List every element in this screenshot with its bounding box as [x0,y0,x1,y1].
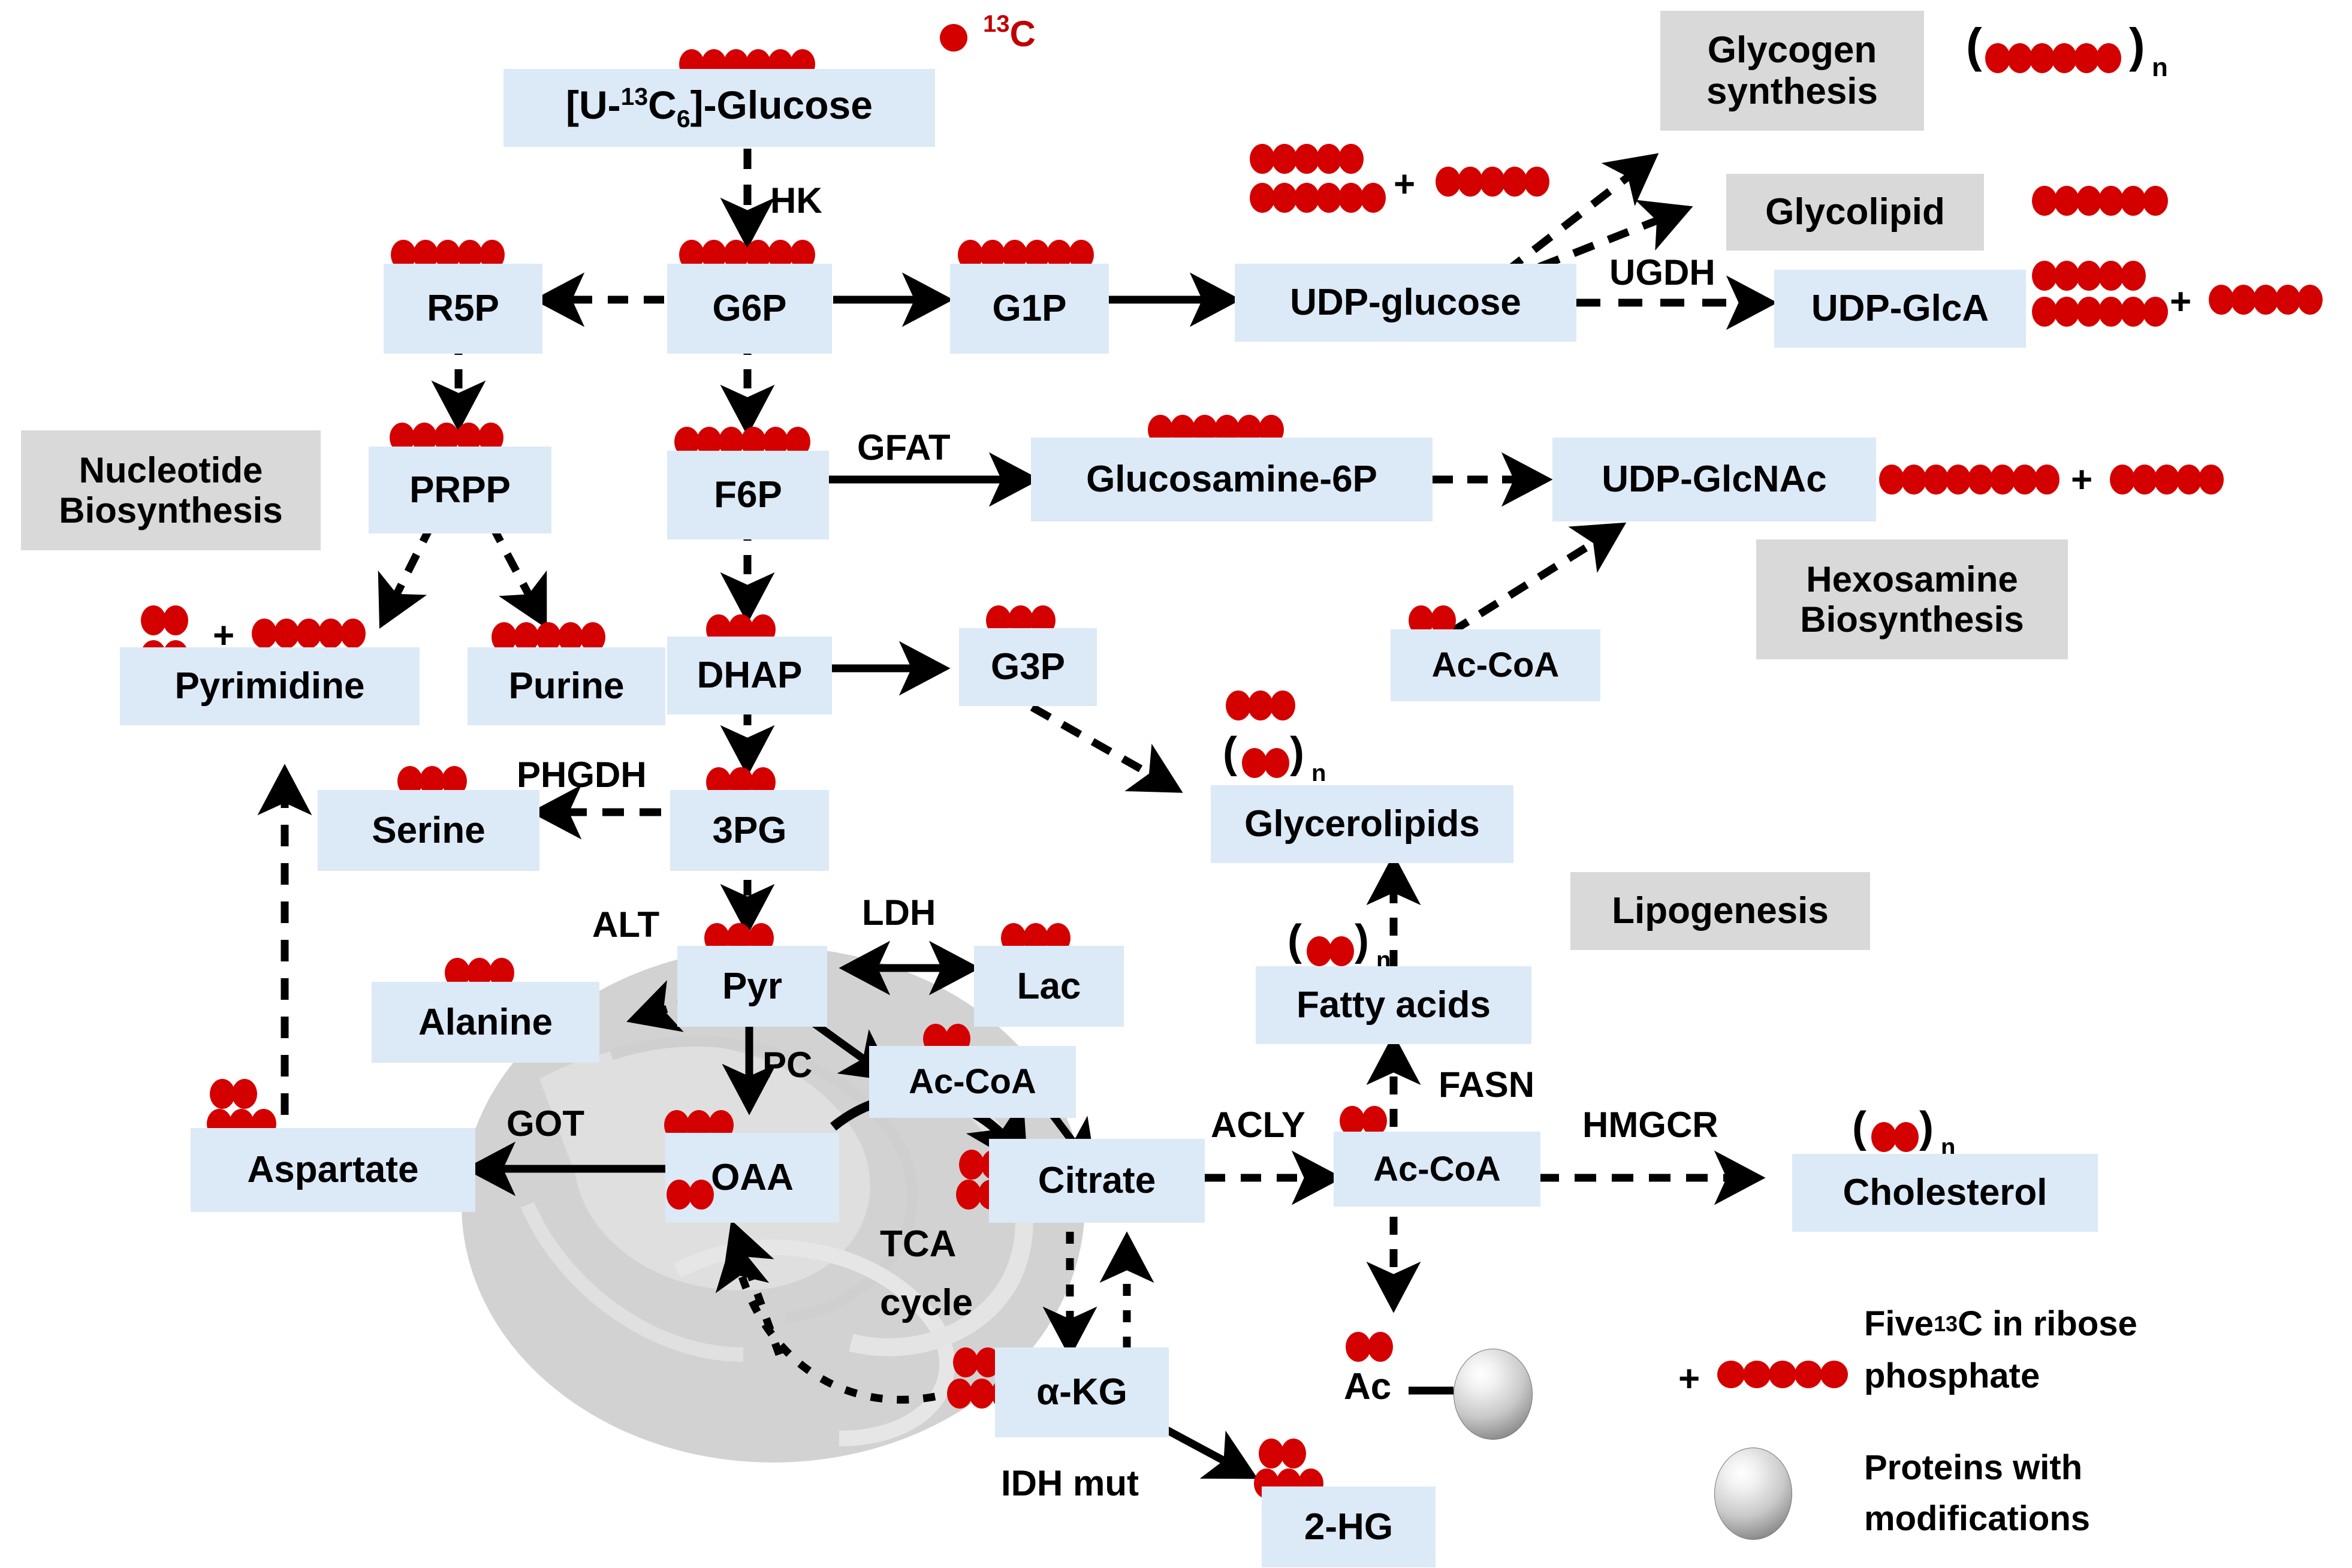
nucleotide-biosynthesis-line1: Nucleotide [79,450,263,490]
enzyme-ldh-label: LDH [862,892,936,933]
glycerolipids-carbon-dots [1226,690,1292,720]
enzyme-alt-label: ALT [592,904,659,945]
metabolite-pyrimidine[interactable]: Pyrimidine [120,647,420,725]
udp-glca-extra-carbon-dots [2209,285,2320,315]
ac-protein-label: Ac [1344,1365,1391,1408]
metabolite-ac-coa-hexosamine-label: Ac-CoA [1432,648,1560,683]
metabolite-udp-glucose-label: UDP-glucose [1290,284,1521,321]
metabolite-g6p-label: G6P [712,290,786,327]
metabolite-lac[interactable]: Lac [974,946,1124,1027]
metabolite-cholesterol[interactable]: Cholesterol [1792,1154,2098,1232]
metabolite-udp-glcnac[interactable]: UDP-GlcNAc [1552,438,1876,521]
metabolite-prpp[interactable]: PRPP [369,447,551,533]
glycerolipids-repeat-close-paren: ) [1290,728,1304,777]
enzyme-phgdh-label: PHGDH [517,754,647,795]
metabolite-udp-glcnac-label: UDP-GlcNAc [1602,461,1827,498]
metabolite-ac-coa-hexosamine[interactable]: Ac-CoA [1391,629,1600,701]
metabolite-glucose[interactable]: [U-13C6]-Glucose [503,69,935,147]
metabolite-lac-label: Lac [1017,968,1081,1005]
metabolite-fatty-acids-label: Fatty acids [1296,987,1491,1024]
glycogen-synthesis-line1: Glycogen [1708,29,1877,71]
metabolite-f6p-label: F6P [714,477,782,514]
cholesterol-repeat-carbon-dots [1871,1122,1916,1152]
udp-glcnac-extra-carbon-dots [2110,465,2221,494]
enzyme-gfat-label: GFAT [857,427,951,468]
metabolite-dhap-label: DHAP [697,657,803,694]
legend-ribose-text-line1: Five 13C in ribose [1864,1304,2137,1344]
metabolite-glucose-label: [U-13C6]-Glucose [566,85,873,131]
glycolipid-label: Glycolipid [1765,191,1945,233]
enzyme-pc-label: PC [762,1044,812,1085]
pathway-hexosamine-biosynthesis[interactable]: Hexosamine Biosynthesis [1756,539,2068,659]
metabolite-udp-glucose[interactable]: UDP-glucose [1235,264,1576,342]
tca-cycle-label-line1: TCA [880,1223,956,1265]
metabolite-glucosamine-6p-label: Glucosamine-6P [1086,461,1377,498]
metabolite-alpha-kg-label: α-KG [1036,1374,1127,1411]
metabolite-citrate-label: Citrate [1038,1162,1156,1199]
udp-glca-plus-operator: + [2170,281,2191,323]
legend-ribose-text-line2: phosphate [1864,1356,2040,1396]
udp-glcnac-plus-operator: + [2071,459,2092,501]
glycogen-carbon-dots [1985,43,2118,73]
enzyme-acly-label: ACLY [1211,1104,1305,1145]
isotope-mass-number: 13 [983,11,1010,38]
metabolite-udp-glca-label: UDP-GlcA [1811,290,1989,327]
metabolite-aspartate[interactable]: Aspartate [191,1128,475,1212]
glycerolipids-repeat-subscript: n [1311,760,1326,787]
legend-protein-text-line1: Proteins with [1864,1448,2082,1488]
akg-carbon-dots-row1 [953,1347,997,1377]
metabolite-glycerolipids-label: Glycerolipids [1244,806,1480,843]
glycerolipids-repeat-carbon-dots [1242,748,1286,778]
metabolite-udp-glca[interactable]: UDP-GlcA [1774,270,2026,348]
metabolite-2hg-label: 2-HG [1304,1509,1393,1546]
metabolite-ac-coa-cyto[interactable]: Ac-CoA [1334,1132,1540,1207]
metabolite-3pg-label: 3PG [712,812,786,849]
udp-glucose-extra-carbon-dots [1436,167,1546,197]
metabolite-citrate[interactable]: Citrate [989,1139,1205,1223]
metabolite-2hg[interactable]: 2-HG [1262,1486,1436,1567]
ac-protein-carbon-dots [1346,1332,1390,1362]
glycogen-repeat-open-paren: ( [1966,18,1982,73]
metabolite-dhap[interactable]: DHAP [667,637,832,714]
metabolite-g1p[interactable]: G1P [950,264,1109,354]
aspartate-carbon-dots-row1 [210,1079,254,1109]
metabolite-aspartate-label: Aspartate [248,1151,419,1189]
udp-glca-carbon-dots-row1 [2032,261,2143,291]
udp-glca-carbon-dots-row2 [2032,297,2165,327]
metabolite-purine[interactable]: Purine [468,647,665,725]
metabolite-alanine[interactable]: Alanine [372,982,599,1063]
metabolite-pyrimidine-label: Pyrimidine [175,668,365,705]
metabolite-glycerolipids[interactable]: Glycerolipids [1211,785,1513,863]
metabolite-f6p[interactable]: F6P [667,451,829,539]
legend-ribose-carbon-dots [1717,1361,1846,1388]
glycerolipids-repeat-open-paren: ( [1223,728,1237,777]
glycolipid-carbon-dots [2032,186,2165,216]
fatty-acids-repeat-carbon-dots [1307,936,1351,966]
hexosamine-biosynthesis-line1: Hexosamine [1806,559,2018,599]
metabolite-ac-coa-mito[interactable]: Ac-CoA [869,1046,1076,1118]
fatty-acids-repeat-close-paren: ) [1355,916,1369,965]
tracer-isotope-label: 13C [983,13,1036,55]
pathway-diagram-canvas: 13C [U-13C6]-Glucose HK G6P R5P G1P + UD… [0,0,2352,1568]
glycogen-repeat-subscript: n [2152,53,2168,83]
cholesterol-repeat-close-paren: ) [1919,1103,1934,1152]
metabolite-serine-label: Serine [372,812,486,849]
udp-glcnac-carbon-dots [1879,465,2057,494]
metabolite-alpha-kg[interactable]: α-KG [995,1347,1169,1437]
legend-protein-text-line2: modifications [1864,1498,2090,1539]
metabolite-3pg[interactable]: 3PG [670,790,829,871]
metabolite-g3p[interactable]: G3P [959,628,1097,706]
hexosamine-biosynthesis-line2: Biosynthesis [1800,599,2024,640]
metabolite-g3p-label: G3P [991,649,1065,686]
metabolite-purine-label: Purine [509,668,625,705]
glycogen-repeat-close-paren: ) [2129,18,2145,73]
pyrimidine-extra-carbon-dots [252,619,363,649]
enzyme-ugdh-label: UGDH [1609,252,1715,293]
metabolite-serine[interactable]: Serine [318,790,539,871]
lipogenesis-label: Lipogenesis [1612,890,1829,931]
metabolite-cholesterol-label: Cholesterol [1843,1174,2047,1211]
pathway-glycolipid[interactable]: Glycolipid [1726,174,1984,251]
pathway-lipogenesis[interactable]: Lipogenesis [1570,872,1870,950]
pathway-nucleotide-biosynthesis[interactable]: Nucleotide Biosynthesis [21,430,321,550]
glycogen-synthesis-line2: synthesis [1706,71,1878,112]
metabolite-g6p[interactable]: G6P [667,264,832,354]
metabolite-ac-coa-mito-label: Ac-CoA [909,1065,1036,1099]
udp-glucose-carbon-dots-row2 [1250,183,1383,213]
pathway-glycogen-synthesis[interactable]: Glycogen synthesis [1660,11,1924,131]
metabolite-fatty-acids[interactable]: Fatty acids [1256,966,1531,1044]
metabolite-oaa-label: OAA [711,1159,794,1196]
cholesterol-repeat-open-paren: ( [1852,1103,1866,1152]
protein-sphere-icon [1454,1349,1533,1440]
metabolite-prpp-label: PRPP [409,472,511,509]
metabolite-r5p[interactable]: R5P [384,264,542,354]
metabolite-pyr-label: Pyr [722,968,782,1005]
enzyme-hk-label: HK [770,180,822,221]
legend-plus-operator: + [1678,1358,1700,1400]
enzyme-hmgcr-label: HMGCR [1582,1104,1718,1145]
udp-glucose-plus-operator: + [1394,163,1415,206]
legend-protein-sphere-icon [1714,1448,1792,1540]
pyrimidine-carbon-dots-row1 [141,605,185,635]
isotope-element: C [1010,13,1036,55]
oaa-carbon-dots-bottom [667,1180,711,1210]
udp-glucose-carbon-dots-row1 [1250,144,1361,174]
metabolite-alanine-label: Alanine [418,1004,553,1041]
enzyme-got-label: GOT [506,1103,584,1144]
nucleotide-biosynthesis-line2: Biosynthesis [59,490,282,530]
fatty-acids-repeat-open-paren: ( [1287,916,1302,965]
tracer-dot [940,24,966,52]
enzyme-fasn-label: FASN [1439,1064,1534,1105]
metabolite-glucosamine-6p[interactable]: Glucosamine-6P [1031,438,1433,521]
metabolite-pyr[interactable]: Pyr [677,946,827,1027]
2hg-carbon-dots-row1 [1259,1439,1303,1469]
metabolite-r5p-label: R5P [427,290,499,327]
metabolite-ac-coa-cyto-label: Ac-CoA [1373,1152,1501,1187]
metabolite-g1p-label: G1P [992,290,1066,327]
tca-cycle-label-line2: cycle [880,1281,973,1324]
enzyme-idh-mut-label: IDH mut [1001,1463,1139,1504]
